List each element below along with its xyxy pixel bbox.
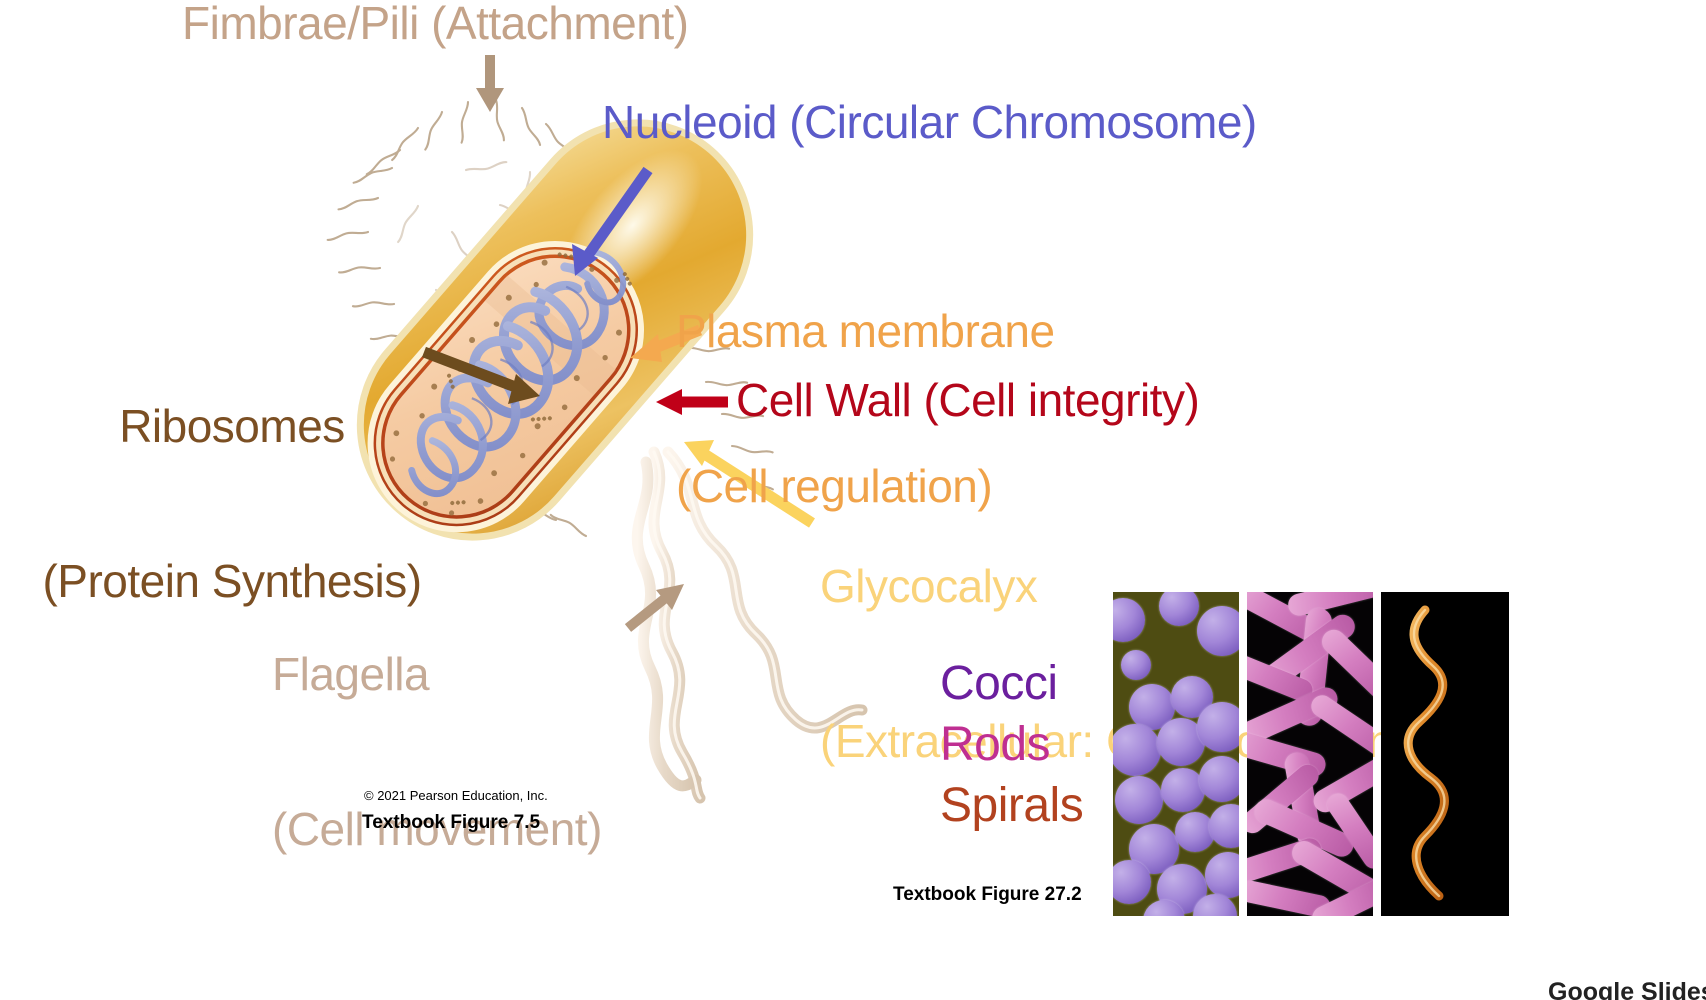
label-rods: Rods [940, 718, 1050, 772]
pearson-copyright: © 2021 Pearson Education, Inc. [364, 788, 548, 803]
rods-micrograph [1247, 592, 1373, 916]
figure-caption-cell: Textbook Figure 7.5 [362, 812, 540, 834]
corner-partial-text: Google Slides [1548, 978, 1706, 1000]
label-fimbrae-pili: Fimbrae/Pili (Attachment) [182, 0, 688, 50]
label-cell-wall: Cell Wall (Cell integrity) [736, 375, 1199, 427]
nucleoid-inner-strands [450, 282, 596, 441]
label-nucleoid: Nucleoid (Circular Chromosome) [602, 97, 1257, 149]
nucleoid-arrow [572, 170, 648, 276]
label-cocci: Cocci [940, 657, 1058, 711]
micrograph-strip [1113, 592, 1519, 916]
label-ribosomes-line1: Ribosomes [22, 401, 442, 453]
label-spirals: Spirals [940, 779, 1083, 833]
spiral-filament [1381, 592, 1509, 916]
label-flagella-line1: Flagella [272, 649, 602, 701]
label-flagella: Flagella (Cell movement) [272, 546, 602, 958]
figure-caption-shapes: Textbook Figure 27.2 [893, 884, 1082, 906]
label-plasma-membrane-line1: Plasma membrane [676, 306, 1055, 358]
cocci-micrograph [1113, 592, 1239, 916]
spirals-micrograph [1381, 592, 1509, 916]
slide-canvas: Fimbrae/Pili (Attachment) Nucleoid (Circ… [0, 0, 1706, 1000]
fimbrae-arrow [476, 55, 504, 112]
